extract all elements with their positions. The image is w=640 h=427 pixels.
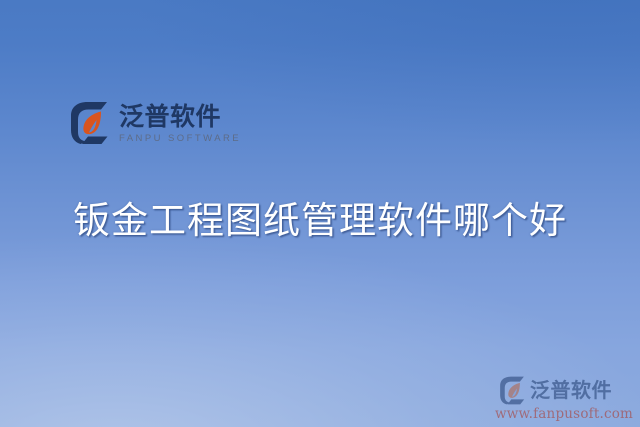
promo-banner: 泛普软件 FANPU SOFTWARE 钣金工程图纸管理软件哪个好 泛普软件 w…: [0, 0, 640, 427]
watermark-logo-row: 泛普软件: [494, 376, 634, 405]
watermark-url: www.fanpusoft.com: [494, 408, 634, 422]
watermark: 泛普软件 www.fanpusoft.com: [494, 376, 634, 422]
watermark-name-cn: 泛普软件: [530, 380, 612, 400]
brand-logo: 泛普软件 FANPU SOFTWARE: [68, 101, 241, 145]
fanpu-sail-logo-icon: [498, 376, 526, 405]
headline-title: 钣金工程图纸管理软件哪个好: [0, 198, 640, 244]
brand-name-cn: 泛普软件: [119, 104, 241, 130]
brand-wordmark: 泛普软件 FANPU SOFTWARE: [119, 103, 241, 144]
brand-name-en: FANPU SOFTWARE: [119, 134, 241, 144]
fanpu-sail-logo-icon: [68, 101, 110, 145]
